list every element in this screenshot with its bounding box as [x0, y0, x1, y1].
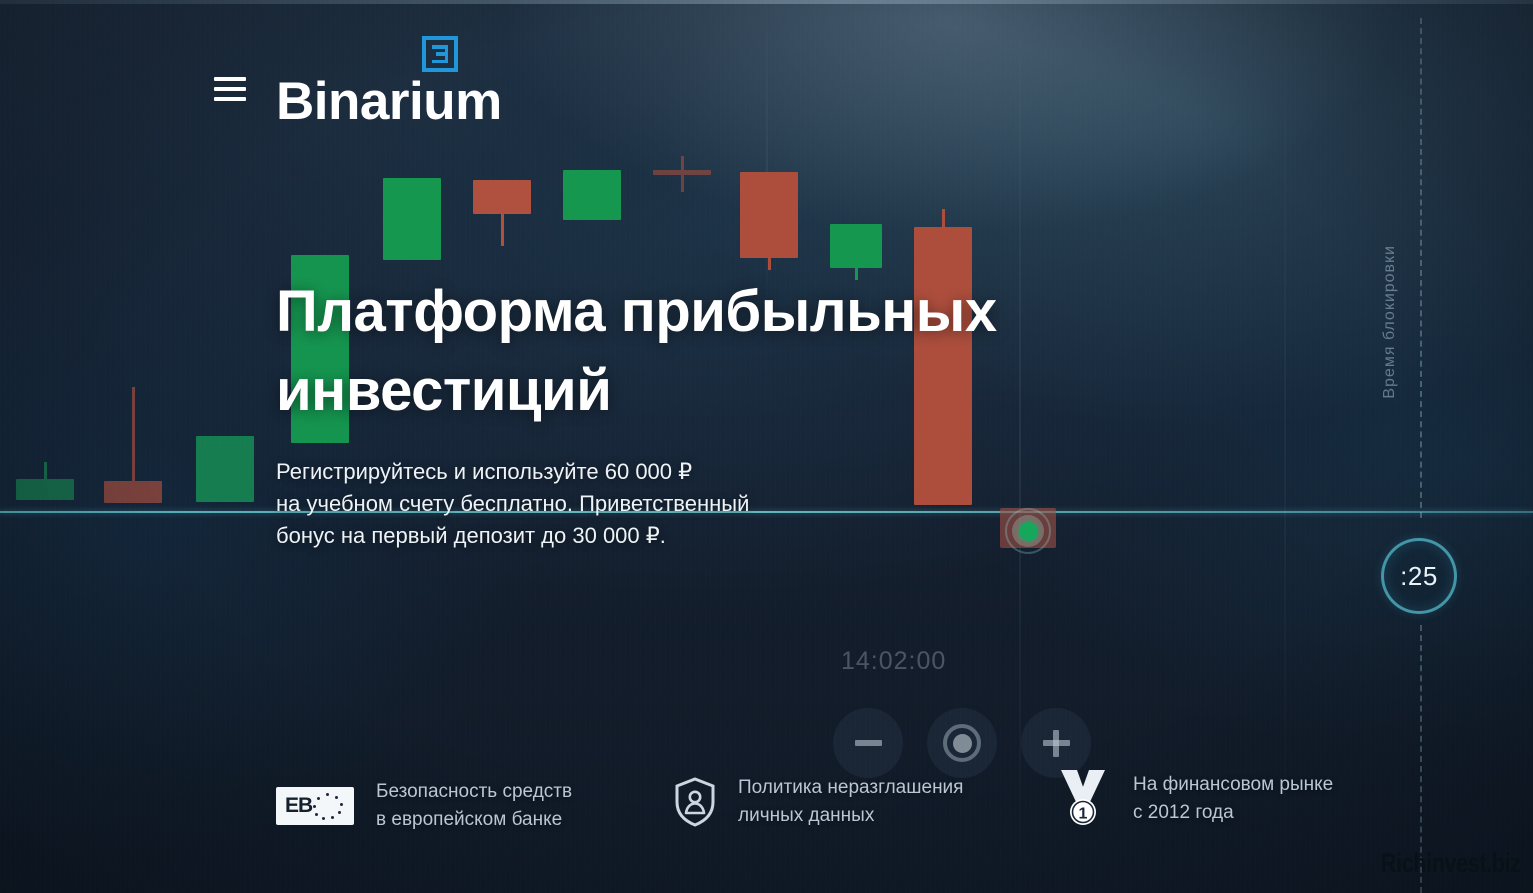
feature-item-market-since: 1 На финансовом рынке с 2012 года: [1055, 768, 1333, 830]
feature-label: Политика неразглашения личных данных: [738, 774, 963, 830]
minus-icon: [855, 740, 882, 746]
brand-wordmark: Binarium: [276, 72, 502, 132]
hero-subtitle: Регистрируйтесь и используйте 60 000 ₽ н…: [276, 456, 1036, 552]
source-watermark: Richinvest.biz: [1381, 848, 1521, 879]
trust-feature-row: EB Безопасность средств в европейском ба…: [276, 768, 1396, 830]
page-title: Платформа прибыльных инвестиций: [276, 272, 1036, 430]
hamburger-menu-icon[interactable]: [214, 77, 246, 101]
countdown-value: :25: [1400, 561, 1438, 592]
feature-label: Безопасность средств в европейском банке: [376, 778, 572, 834]
binarium-square-mark-icon: [422, 36, 458, 72]
shield-person-icon: [674, 777, 716, 827]
countdown-timer: :25: [1381, 538, 1457, 614]
feature-item-privacy-policy: Политика неразглашения личных данных: [674, 774, 963, 830]
lock-time-label: Время блокировки: [1381, 245, 1399, 399]
landing-hero-stage: Binarium Платформа прибыльных инвестиций…: [0, 0, 1533, 893]
feature-item-bank-security: EB Безопасность средств в европейском ба…: [276, 778, 572, 834]
eu-bank-badge-icon: EB: [276, 787, 354, 825]
feature-label: На финансовом рынке с 2012 года: [1133, 771, 1333, 827]
target-circle-icon: [943, 724, 981, 762]
eb-badge-text: EB: [285, 794, 312, 818]
hero-copy: Платформа прибыльных инвестиций Регистри…: [276, 272, 1036, 552]
medal-rank-text: 1: [1079, 806, 1088, 823]
chart-timestamp: 14:02:00: [841, 647, 946, 676]
site-header: Binarium: [0, 0, 1533, 160]
medal-icon: 1: [1055, 768, 1111, 830]
plus-icon-v: [1053, 730, 1059, 757]
